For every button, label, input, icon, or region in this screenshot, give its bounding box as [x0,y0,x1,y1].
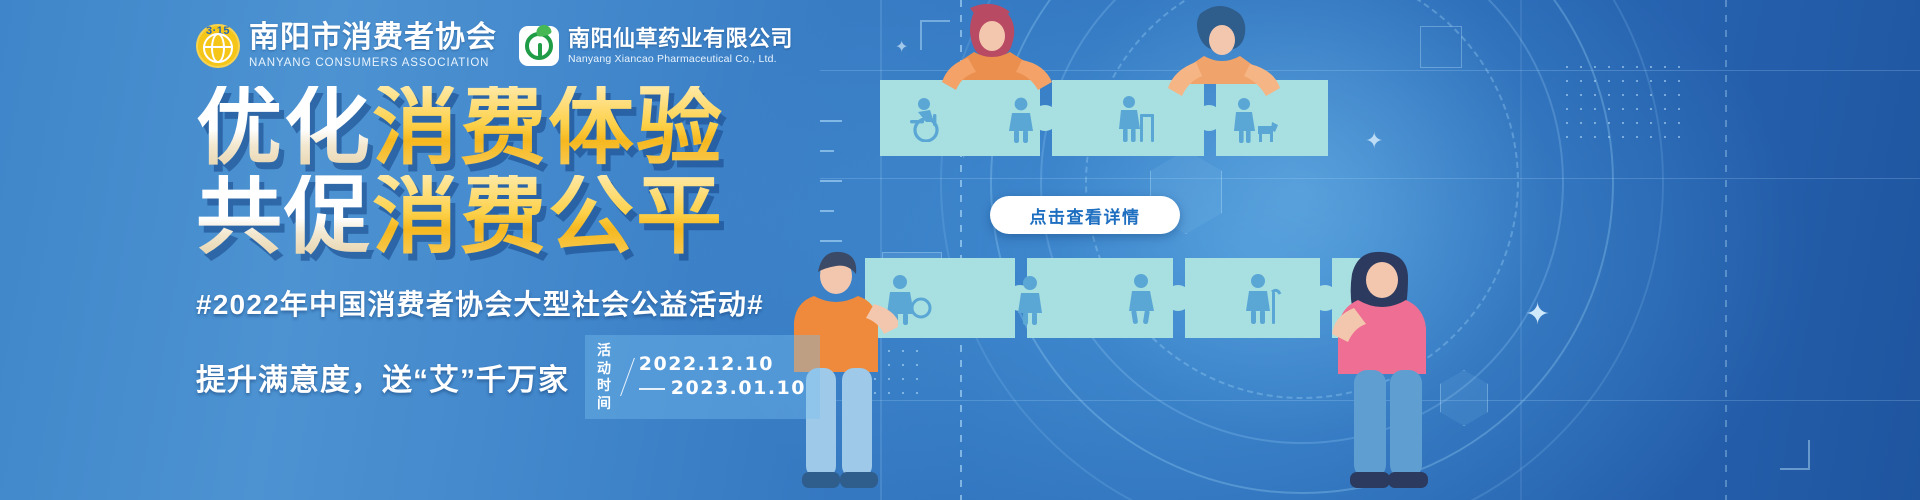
corner-bracket [1780,440,1810,470]
scale-tick [820,150,834,152]
date-label-line-2: 时间 [597,377,617,412]
campaign-tagline: 提升满意度，送“艾”千万家 [196,355,569,399]
dot-grid [1560,60,1680,150]
headline-line-2: 共促 消费公平 [196,175,724,258]
date-end: 2023.01.10 [671,378,806,400]
leaf-shape [525,32,553,60]
association-name-cn: 南阳市消费者协会 [249,22,497,54]
headline-segment-white: 共促 [196,175,372,258]
date-badge: 活动 时间 2022.12.10 2023.01.10 [585,335,820,419]
date-dash [639,388,665,390]
company-name-en: Nanyang Xiancao Pharmaceutical Co., Ltd. [568,53,793,65]
scale-tick [820,180,842,182]
standing-person-silhouette [1010,274,1050,326]
walking-person-silhouette [1120,272,1164,326]
headline-line-1: 优化 消费体验 [196,86,724,169]
headline-segment-gold: 消费公平 [372,175,724,258]
date-end-row: 2023.01.10 [639,378,806,400]
logo-row: 3·15 南阳市消费者协会 NANYANG CONSUMERS ASSOCIAT… [196,22,793,71]
person-man-blue-hair [1160,0,1290,120]
315-globe-icon: 3·15 [196,24,240,68]
badge-slash-divider [621,358,636,396]
view-details-label: 点击查看详情 [1030,203,1141,228]
headline-segment-gold: 消费体验 [372,86,724,169]
tagline-row: 提升满意度，送“艾”千万家 活动 时间 2022.12.10 2023.01.1… [196,335,820,419]
cane-user-silhouette [1238,272,1284,326]
headline-segment-white: 优化 [196,86,372,169]
association-name-en: NANYANG CONSUMERS ASSOCIATION [249,55,497,71]
scale-tick [820,120,842,122]
walker-user-silhouette [1110,94,1158,144]
star-icon: ✦ [1365,130,1383,152]
scale-tick [820,210,834,212]
date-start: 2022.12.10 [639,354,806,376]
promo-banner: ✦ ✦ ✦ ✦ [0,0,1920,500]
dashed-vertical-line-4 [1725,0,1727,500]
horizontal-rule-2 [820,178,1920,179]
logo-nanyang-xiancao: 南阳仙草药业有限公司 Nanyang Xiancao Pharmaceutica… [519,26,793,66]
logo-nanyang-consumers-association: 3·15 南阳市消费者协会 NANYANG CONSUMERS ASSOCIAT… [196,22,497,71]
person-woman-pink [1330,250,1450,500]
scale-tick [820,240,842,242]
star-icon: ✦ [895,40,908,56]
headline: 优化 消费体验 共促 消费公平 [196,86,724,257]
left-content: 3·15 南阳市消费者协会 NANYANG CONSUMERS ASSOCIAT… [0,0,820,500]
view-details-button[interactable]: 点击查看详情 [990,196,1180,234]
xiancao-leaf-icon [519,26,559,66]
vertical-line-3 [1520,0,1522,500]
date-label-line-1: 活动 [597,342,617,377]
campaign-subtitle: #2022年中国消费者协会大型社会公益活动# [196,283,764,323]
company-name-cn: 南阳仙草药业有限公司 [568,27,793,51]
decor-square [1420,26,1462,68]
star-icon: ✦ [1525,300,1550,330]
person-woman-red-hair [930,0,1060,120]
globe-parallel [203,46,233,48]
date-badge-label: 活动 时间 [597,342,617,412]
date-range: 2022.12.10 2023.01.10 [639,354,806,400]
